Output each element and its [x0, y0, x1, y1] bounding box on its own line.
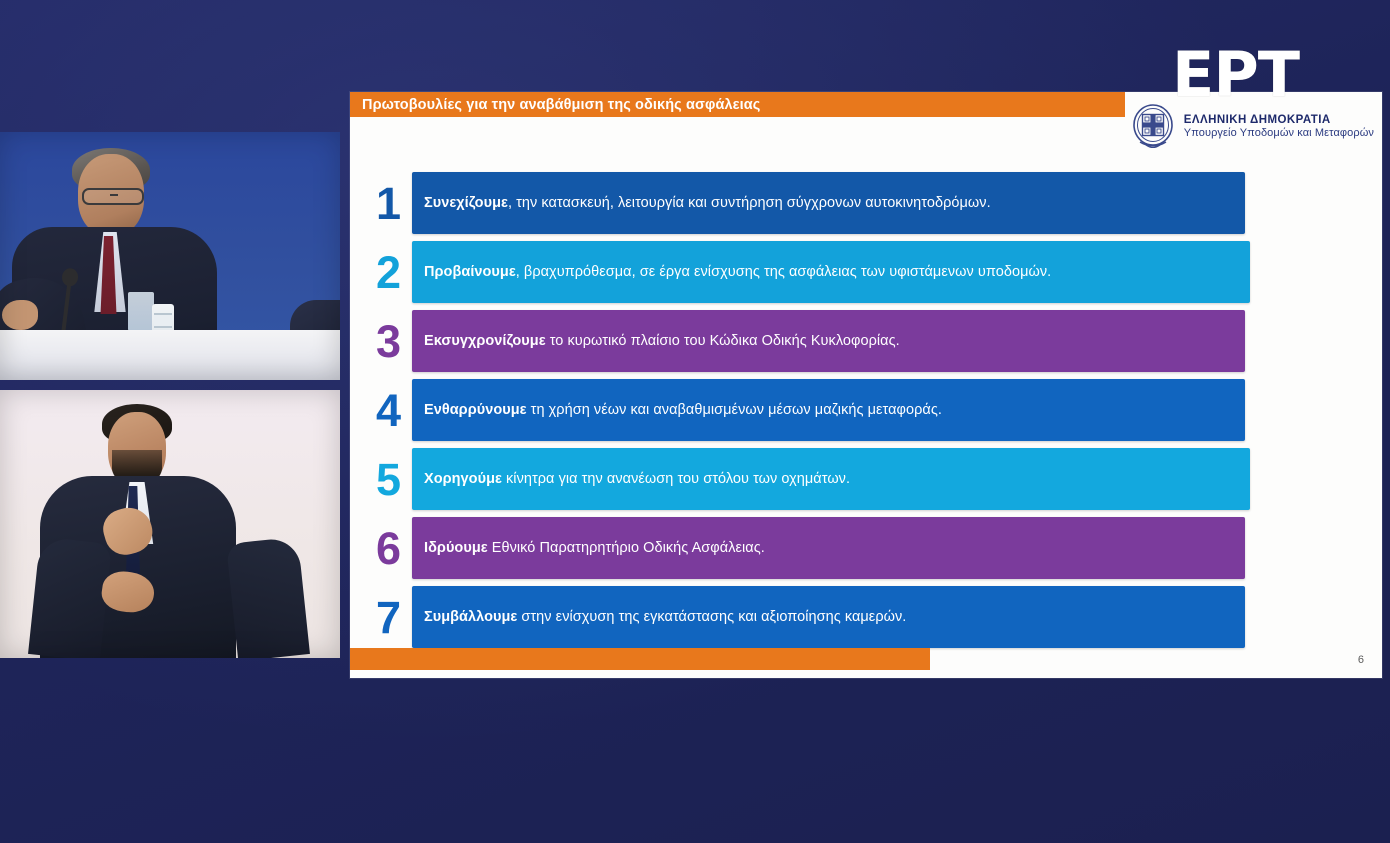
initiative-number: 7: [364, 595, 412, 640]
podium-desk: [0, 330, 340, 380]
initiative-row[interactable]: 3Εκσυγχρονίζουμε το κυρωτικό πλαίσιο του…: [364, 310, 1382, 372]
initiative-lead-word: Προβαίνουμε: [424, 264, 516, 280]
initiative-number: 3: [364, 319, 412, 364]
initiative-row[interactable]: 5Χορηγούμε κίνητρα για την ανανέωση του …: [364, 448, 1382, 510]
initiative-text: Ενθαρρύνουμε τη χρήση νέων και αναβαθμισ…: [424, 402, 942, 418]
water-glass: [128, 292, 154, 334]
initiative-number: 6: [364, 526, 412, 571]
slide-page-number: 6: [1358, 654, 1364, 666]
initiative-text: Συμβάλλουμε στην ενίσχυση της εγκατάστασ…: [424, 609, 906, 625]
initiatives-list: 1Συνεχίζουμε, την κατασκευή, λειτουργία …: [364, 172, 1382, 655]
initiative-bar[interactable]: Συνεχίζουμε, την κατασκευή, λειτουργία κ…: [412, 172, 1245, 234]
initiative-number: 2: [364, 250, 412, 295]
slide-title-bar: Πρωτοβουλίες για την αναβάθμιση της οδικ…: [350, 92, 1125, 117]
initiative-lead-word: Συμβάλλουμε: [424, 609, 517, 625]
slide-title-text: Πρωτοβουλίες για την αναβάθμιση της οδικ…: [350, 97, 760, 113]
initiative-lead-word: Εκσυγχρονίζουμε: [424, 333, 546, 349]
initiative-rest-text: , την κατασκευή, λειτουργία και συντήρησ…: [508, 195, 991, 211]
initiative-text: Συνεχίζουμε, την κατασκευή, λειτουργία κ…: [424, 195, 991, 211]
initiative-number: 5: [364, 457, 412, 502]
initiative-bar[interactable]: Ενθαρρύνουμε τη χρήση νέων και αναβαθμισ…: [412, 379, 1245, 441]
initiative-number: 4: [364, 388, 412, 433]
speaker-hand: [2, 300, 38, 330]
ministry-line-1: ΕΛΛΗΝΙΚΗ ΔΗΜΟΚΡΑΤΙΑ: [1184, 113, 1374, 127]
sign-language-video-panel[interactable]: [0, 390, 340, 658]
speaker-glasses-icon: [82, 188, 144, 205]
initiative-rest-text: Εθνικό Παρατηρητήριο Οδικής Ασφάλειας.: [488, 540, 765, 556]
broadcast-screen: ΕΡΤ Πρωτοβουλίες για την αναβάθμιση της …: [0, 0, 1390, 843]
slide-bottom-accent-bar: [350, 648, 930, 670]
interpreter-left-sleeve: [28, 537, 112, 658]
initiative-lead-word: Ενθαρρύνουμε: [424, 402, 527, 418]
ert-watermark: ΕΡΤ: [1172, 44, 1299, 106]
initiative-rest-text: στην ενίσχυση της εγκατάστασης και αξιοπ…: [517, 609, 906, 625]
initiative-text: Προβαίνουμε, βραχυπρόθεσμα, σε έργα ενίσ…: [424, 264, 1051, 280]
initiative-bar[interactable]: Χορηγούμε κίνητρα για την ανανέωση του σ…: [412, 448, 1250, 510]
initiative-bar[interactable]: Συμβάλλουμε στην ενίσχυση της εγκατάστασ…: [412, 586, 1245, 648]
initiative-text: Χορηγούμε κίνητρα για την ανανέωση του σ…: [424, 471, 850, 487]
initiative-rest-text: , βραχυπρόθεσμα, σε έργα ενίσχυσης της α…: [516, 264, 1051, 280]
initiative-row[interactable]: 2Προβαίνουμε, βραχυπρόθεσμα, σε έργα ενί…: [364, 241, 1382, 303]
initiative-bar[interactable]: Εκσυγχρονίζουμε το κυρωτικό πλαίσιο του …: [412, 310, 1245, 372]
ministry-logo-text: ΕΛΛΗΝΙΚΗ ΔΗΜΟΚΡΑΤΙΑ Υπουργείο Υποδομών κ…: [1184, 113, 1374, 141]
initiative-row[interactable]: 6Ιδρύουμε Εθνικό Παρατηρητήριο Οδικής Ασ…: [364, 517, 1382, 579]
interpreter-right-sleeve: [226, 537, 310, 658]
initiative-rest-text: το κυρωτικό πλαίσιο του Κώδικα Οδικής Κυ…: [546, 333, 900, 349]
initiative-number: 1: [364, 181, 412, 226]
initiative-row[interactable]: 1Συνεχίζουμε, την κατασκευή, λειτουργία …: [364, 172, 1382, 234]
speaker-video-panel[interactable]: [0, 132, 340, 380]
initiative-rest-text: κίνητρα για την ανανέωση του στόλου των …: [502, 471, 850, 487]
initiative-text: Ιδρύουμε Εθνικό Παρατηρητήριο Οδικής Ασφ…: [424, 540, 765, 556]
initiative-rest-text: τη χρήση νέων και αναβαθμισμένων μέσων μ…: [527, 402, 942, 418]
initiative-lead-word: Ιδρύουμε: [424, 540, 488, 556]
initiative-row[interactable]: 7Συμβάλλουμε στην ενίσχυση της εγκατάστα…: [364, 586, 1382, 648]
initiative-lead-word: Χορηγούμε: [424, 471, 502, 487]
ministry-line-2: Υπουργείο Υποδομών και Μεταφορών: [1184, 127, 1374, 141]
initiative-bar[interactable]: Προβαίνουμε, βραχυπρόθεσμα, σε έργα ενίσ…: [412, 241, 1250, 303]
presentation-slide: Πρωτοβουλίες για την αναβάθμιση της οδικ…: [350, 92, 1382, 678]
initiative-text: Εκσυγχρονίζουμε το κυρωτικό πλαίσιο του …: [424, 333, 900, 349]
initiative-lead-word: Συνεχίζουμε: [424, 195, 508, 211]
initiative-row[interactable]: 4Ενθαρρύνουμε τη χρήση νέων και αναβαθμι…: [364, 379, 1382, 441]
initiative-bar[interactable]: Ιδρύουμε Εθνικό Παρατηρητήριο Οδικής Ασφ…: [412, 517, 1245, 579]
greek-coat-of-arms-icon: [1130, 102, 1176, 152]
